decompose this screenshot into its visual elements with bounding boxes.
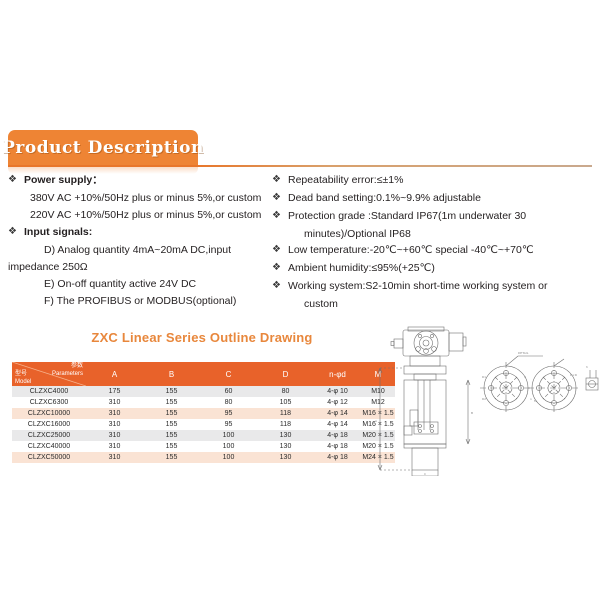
table-cell-d: 118 [257,419,314,430]
table-row: CLZXC10000310155951184-φ 14M16 × 1.5 [12,408,395,419]
table-header-nd: n-φd [314,362,361,386]
table-row: CLZXC250003101551001304-φ 18M20 × 1.5 [12,430,395,441]
svg-text:h: h [586,365,588,369]
table-cell-b: 155 [143,430,200,441]
table-cell-a: 310 [86,430,143,441]
svg-text:n: n [530,397,532,401]
table-cell-nd: 4-φ 14 [314,408,361,419]
drawing-section-title: ZXC Linear Series Outline Drawing [12,330,392,345]
spec-bullet-item: ❖Repeatability error:≤±1% [272,172,594,188]
outline-drawing: DETAIL R1 R2 d n D×R M h A B C [358,326,600,476]
table-cell-d: 80 [257,386,314,397]
diamond-bullet-icon: ❖ [272,260,288,276]
spec-text: 220V AC +10%/50Hz plus or minus 5%,or cu… [30,207,270,223]
diamond-bullet-icon: ❖ [8,224,24,240]
table-cell-b: 155 [143,452,200,463]
table-cell-c: 60 [200,386,257,397]
table-cell-model: CLZXC10000 [12,408,86,419]
diamond-bullet-icon: ❖ [272,208,288,224]
table-cell-nd: 4-φ 10 [314,386,361,397]
table-cell-c: 100 [200,452,257,463]
table-cell-c: 80 [200,397,257,408]
spec-text: minutes)/Optional IP68 [304,226,594,242]
table-corner-header: 参数 Parameters 型号 Model [12,362,86,386]
svg-text:d: d [524,375,526,379]
table-cell-c: 100 [200,430,257,441]
table-cell-model: CLZXC6300 [12,397,86,408]
table-cell-b: 155 [143,441,200,452]
dimension-table: 参数 Parameters 型号 Model A B C D n-φd M [12,362,395,463]
table-cell-nd: 4-φ 12 [314,397,361,408]
spec-bullet-item: ❖Working system:S2-10min short-time work… [272,278,594,294]
table-header-b: B [143,362,200,386]
svg-text:DETAIL: DETAIL [518,351,529,355]
table-cell-model: CLZXC16000 [12,419,86,430]
table-cell-nd: 4-φ 14 [314,419,361,430]
corner-model-en: Model [15,379,31,385]
banner-rule [8,165,592,167]
table-cell-d: 130 [257,452,314,463]
spec-text: impedance 250Ω [8,259,270,275]
table-cell-a: 310 [86,452,143,463]
table-cell-d: 130 [257,441,314,452]
spec-bullet-item: ❖Ambient humidity:≤95%(+25℃) [272,260,594,276]
table-header-c: C [200,362,257,386]
spec-text: 380V AC +10%/50Hz plus or minus 5%,or cu… [30,190,270,206]
table-cell-b: 155 [143,419,200,430]
diamond-bullet-icon: ❖ [272,190,288,206]
table-cell-nd: 4-φ 18 [314,452,361,463]
corner-param-cn: 参数 [71,363,83,369]
corner-model-cn: 型号 [15,371,27,377]
svg-text:R1: R1 [482,375,486,379]
spec-bullet-item: ❖Power supply： [8,172,270,188]
table-header-d: D [257,362,314,386]
svg-text:D×R: D×R [570,373,577,377]
specs-column-right: ❖Repeatability error:≤±1%❖Dead band sett… [272,172,594,312]
table-row: CLZXC6300310155801054-φ 12M12 [12,397,395,408]
spec-text: Repeatability error:≤±1% [288,172,594,188]
table-cell-b: 155 [143,386,200,397]
svg-text:M: M [534,399,537,403]
table-cell-a: 310 [86,441,143,452]
spec-text: custom [304,296,594,312]
spec-text: Ambient humidity:≤95%(+25℃) [288,260,594,276]
table-row: CLZXC16000310155951184-φ 14M16 × 1.5 [12,419,395,430]
table-cell-a: 175 [86,386,143,397]
table-row: CLZXC400003101551001304-φ 18M20 × 1.5 [12,441,395,452]
spec-bullet-item: ❖Dead band setting:0.1%~9.9% adjustable [272,190,594,206]
table-body: CLZXC400017515560804-φ 10M10CLZXC6300310… [12,386,395,463]
table-cell-d: 118 [257,408,314,419]
spec-bullet-item: ❖Input signals: [8,224,270,240]
table-cell-d: 105 [257,397,314,408]
section-banner: Product Description [0,130,600,170]
table-cell-model: CLZXC40000 [12,441,86,452]
actuator-outline-drawing-icon: DETAIL R1 R2 d n D×R M h A B C [358,326,600,476]
spec-text: F) The PROFIBUS or MODBUS(optional) [44,293,270,309]
table-cell-c: 95 [200,419,257,430]
spec-text: D) Analog quantity 4mA~20mA DC,input [44,242,270,258]
table-cell-model: CLZXC25000 [12,430,86,441]
table-cell-a: 310 [86,408,143,419]
table-cell-b: 155 [143,397,200,408]
table-cell-model: CLZXC50000 [12,452,86,463]
table-row: CLZXC400017515560804-φ 10M10 [12,386,395,397]
svg-text:R2: R2 [482,397,486,401]
table-cell-model: CLZXC4000 [12,386,86,397]
diamond-bullet-icon: ❖ [272,242,288,258]
svg-text:B: B [471,411,473,415]
table-header-row: 参数 Parameters 型号 Model A B C D n-φd M [12,362,395,386]
table-cell-c: 100 [200,441,257,452]
spec-bullet-item: ❖Low temperature:-20℃~+60℃ special -40℃~… [272,242,594,258]
specs-column-left: ❖Power supply：380V AC +10%/50Hz plus or … [8,172,270,310]
corner-param-en: Parameters [52,371,83,377]
diamond-bullet-icon: ❖ [272,172,288,188]
table-head: 参数 Parameters 型号 Model A B C D n-φd M [12,362,395,386]
table-cell-b: 155 [143,408,200,419]
spec-text: Protection grade :Standard IP67(1m under… [288,208,594,224]
spec-bullet-item: ❖Protection grade :Standard IP67(1m unde… [272,208,594,224]
page-title: Product Description [8,130,198,165]
table-cell-a: 310 [86,397,143,408]
spec-text: Working system:S2-10min short-time worki… [288,278,594,294]
diamond-bullet-icon: ❖ [8,172,24,188]
diamond-bullet-icon: ❖ [272,278,288,294]
table-header-a: A [86,362,143,386]
table-cell-nd: 4-φ 18 [314,441,361,452]
svg-text:A: A [375,419,378,423]
spec-text: Input signals: [24,224,270,240]
spec-text: Dead band setting:0.1%~9.9% adjustable [288,190,594,206]
spec-text: Low temperature:-20℃~+60℃ special -40℃~+… [288,242,594,258]
table-cell-nd: 4-φ 18 [314,430,361,441]
table-cell-c: 95 [200,408,257,419]
table-row: CLZXC500003101551001304-φ 18M24 × 1.5 [12,452,395,463]
spec-text: E) On-off quantity active 24V DC [44,276,270,292]
table-cell-d: 130 [257,430,314,441]
spec-text: Power supply： [24,172,270,188]
product-description-page: Product Description ❖Power supply：380V A… [0,0,600,600]
svg-text:C: C [424,472,426,476]
table-cell-a: 310 [86,419,143,430]
